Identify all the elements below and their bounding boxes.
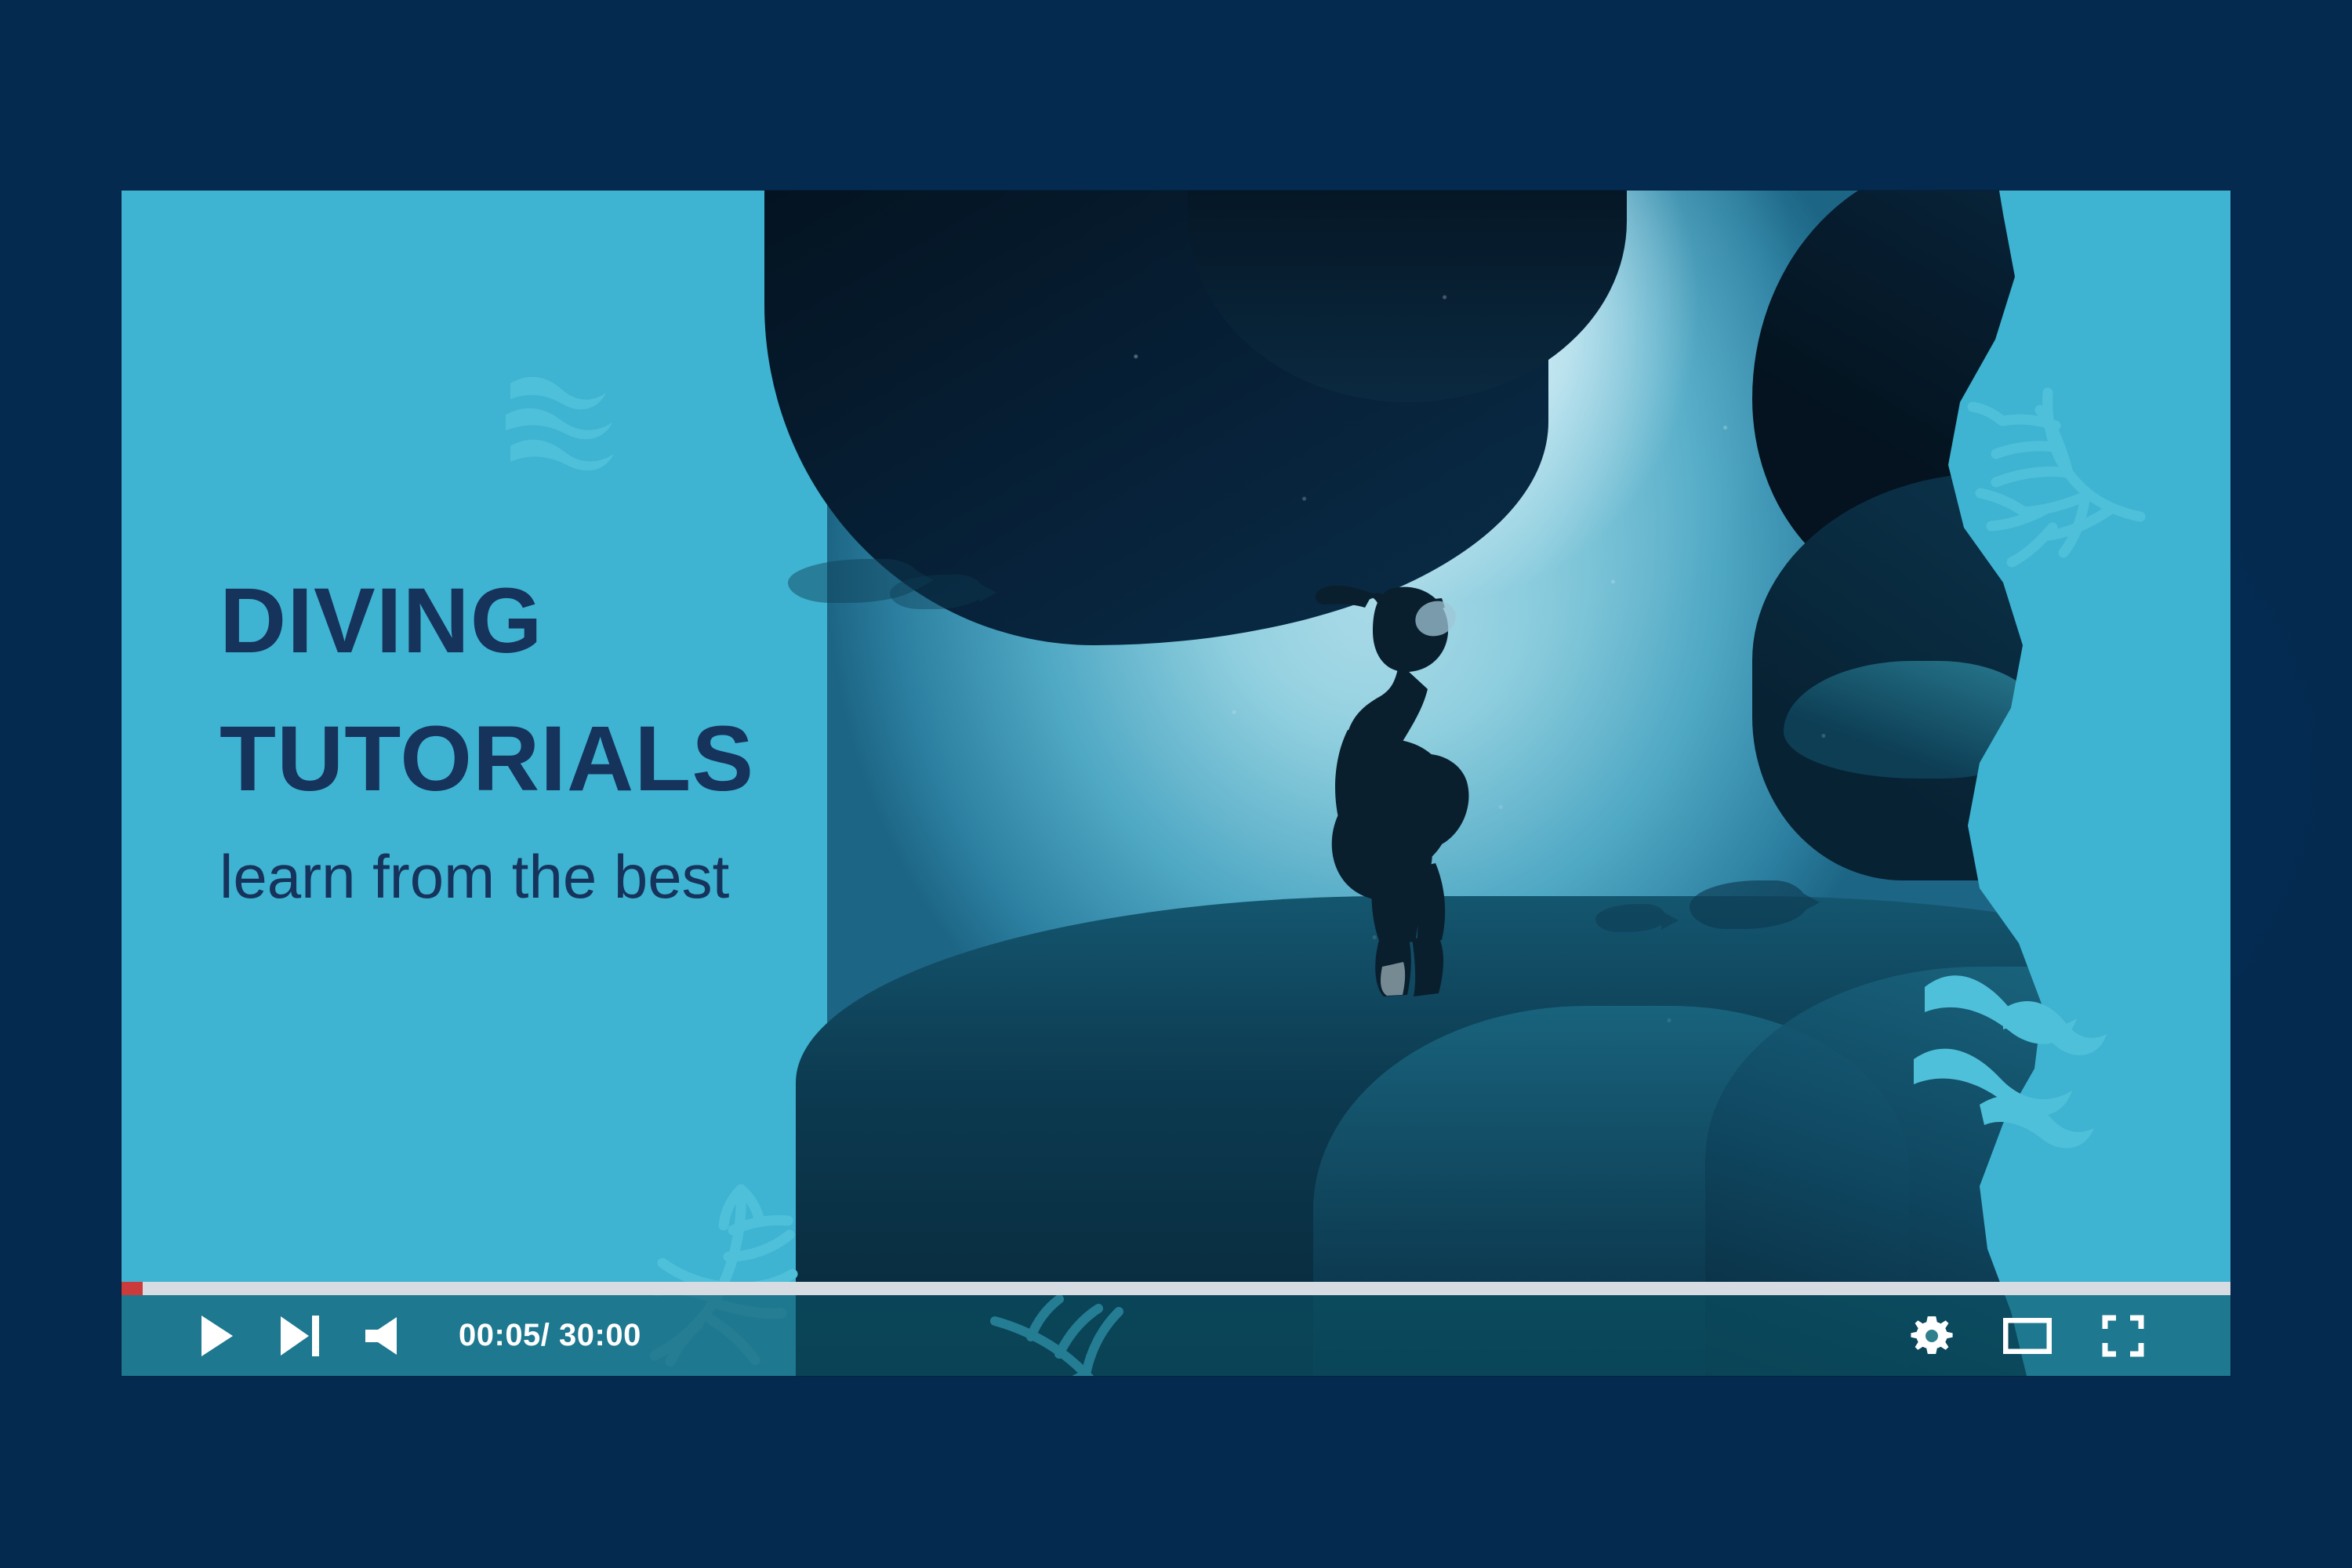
video-stage[interactable]: DIVING TUTORIALS learn from the best <box>122 191 2230 1376</box>
volume-button[interactable] <box>357 1310 408 1362</box>
next-track-button[interactable] <box>274 1310 325 1362</box>
play-button[interactable] <box>191 1310 242 1362</box>
controls-left-group: 00:05/ 30:00 <box>122 1310 641 1362</box>
screen: DIVING TUTORIALS learn from the best <box>0 0 2352 1568</box>
wave-lines-icon <box>1909 959 2144 1155</box>
video-title-block: DIVING TUTORIALS learn from the best <box>220 575 941 907</box>
settings-button[interactable] <box>1906 1310 1958 1362</box>
progress-bar[interactable] <box>122 1282 2230 1295</box>
timecode-label: 00:05/ 30:00 <box>459 1318 641 1353</box>
title-line-2: TUTORIALS <box>220 713 941 805</box>
controls-right-group <box>1906 1310 2230 1362</box>
title-line-1: DIVING <box>220 575 941 667</box>
player-control-bar[interactable]: 00:05/ 30:00 <box>122 1295 2230 1376</box>
seaweed-icon <box>506 347 662 488</box>
video-player[interactable]: DIVING TUTORIALS learn from the best <box>122 191 2230 1376</box>
miniplayer-button[interactable] <box>2002 1310 2053 1362</box>
freediver-silhouette <box>1298 559 1517 998</box>
progress-bar-fill <box>122 1282 143 1295</box>
coral-branch-icon <box>1929 363 2156 575</box>
fullscreen-button[interactable] <box>2097 1310 2149 1362</box>
video-subtitle: learn from the best <box>220 846 941 907</box>
